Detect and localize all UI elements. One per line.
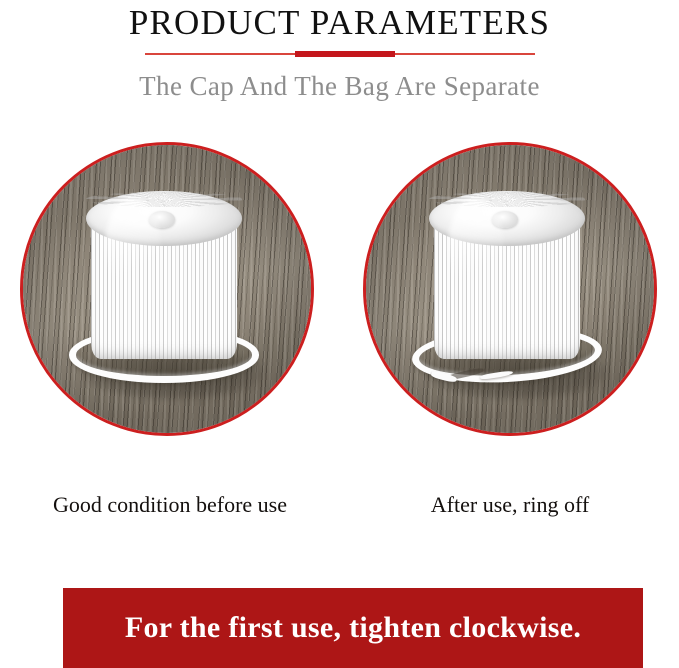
cap-specular-highlight [448,198,504,294]
cap-top-knurl-icon [86,192,242,206]
photo-inner-after [366,145,654,433]
caption-after-use: After use, ring off [350,486,670,524]
caption-before-use: Good condition before use [10,486,330,524]
cap-specular-highlight [105,198,161,294]
photo-caption-row: Good condition before use After use, rin… [0,486,679,532]
page-subtitle: The Cap And The Bag Are Separate [0,69,679,103]
instruction-banner-text: For the first use, tighten clockwise. [125,611,581,645]
page-title: PRODUCT PARAMETERS [0,3,679,43]
ring-broken-tab-secondary [480,371,514,382]
product-photo-before [20,142,314,436]
product-photo-row [0,140,679,442]
product-photo-after [363,142,657,436]
instruction-banner: For the first use, tighten clockwise. [63,588,643,668]
header: PRODUCT PARAMETERS The Cap And The Bag A… [0,0,679,103]
plastic-cap-intact [86,191,242,375]
title-divider [145,49,535,59]
divider-accent-segment [295,51,395,57]
photo-inner-before [23,145,311,433]
cap-top-knurl-icon [429,192,585,206]
plastic-cap-ring-off [429,191,585,375]
